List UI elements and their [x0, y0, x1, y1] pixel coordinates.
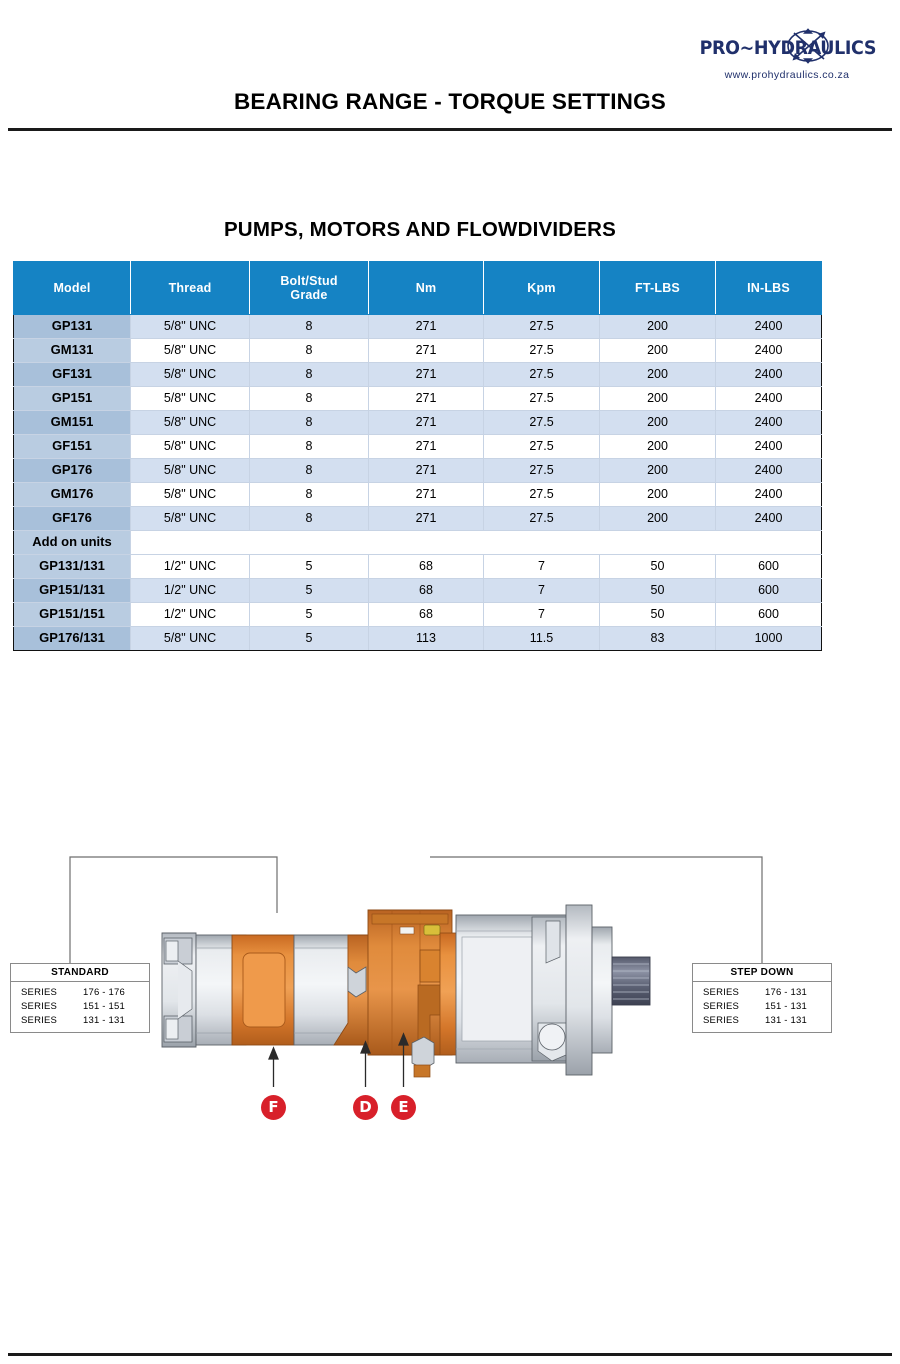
- cell-ft-lbs: 200: [600, 507, 716, 531]
- cell-ft-lbs: 200: [600, 459, 716, 483]
- table-header: Model Thread Bolt/Stud Grade Nm Kpm FT-L…: [14, 262, 822, 315]
- legend-box-standard: STANDARD SERIES 176 - 176 SERIES 151 - 1…: [10, 963, 150, 1033]
- cell-ft-lbs: 200: [600, 411, 716, 435]
- callout-marker-f: F: [261, 1095, 286, 1120]
- cell-thread: 5/8" UNC: [131, 363, 250, 387]
- column-header-nm: Nm: [369, 262, 484, 315]
- cell-nm: 271: [369, 339, 484, 363]
- cell-kpm: 27.5: [484, 435, 600, 459]
- cell-thread: 5/8" UNC: [131, 387, 250, 411]
- series-value: 151 - 131: [765, 1000, 821, 1014]
- table-row: GF1515/8" UNC827127.52002400: [14, 435, 822, 459]
- pump-left-section: [162, 933, 372, 1047]
- cell-nm: 68: [369, 603, 484, 627]
- cell-ft-lbs: 50: [600, 579, 716, 603]
- cell-kpm: 27.5: [484, 483, 600, 507]
- series-label: SERIES: [21, 986, 83, 1000]
- cell-kpm: 27.5: [484, 315, 600, 339]
- table-row: GP1515/8" UNC827127.52002400: [14, 387, 822, 411]
- cell-model: GP151/131: [14, 579, 131, 603]
- cell-kpm: 27.5: [484, 507, 600, 531]
- callout-marker-d: D: [353, 1095, 378, 1120]
- column-header-kpm: Kpm: [484, 262, 600, 315]
- table-body: GP1315/8" UNC827127.52002400GM1315/8" UN…: [14, 315, 822, 651]
- cell-bolt-stud-grade: 8: [250, 435, 369, 459]
- logo-mark: PRO~HYDRAULICS: [692, 28, 882, 68]
- torque-settings-table: Model Thread Bolt/Stud Grade Nm Kpm FT-L…: [13, 261, 822, 651]
- cell-thread: 5/8" UNC: [131, 507, 250, 531]
- cell-kpm: 7: [484, 579, 600, 603]
- cell-in-lbs: 600: [716, 603, 822, 627]
- header-line-1: Thread: [169, 281, 212, 295]
- header-line-1: Bolt/Stud: [280, 274, 337, 288]
- cell-thread: 1/2" UNC: [131, 603, 250, 627]
- cell-kpm: 11.5: [484, 627, 600, 651]
- footer-divider: [8, 1353, 892, 1356]
- list-item: SERIES 151 - 131: [693, 1000, 831, 1014]
- column-header-bolt-stud-grade: Bolt/Stud Grade: [250, 262, 369, 315]
- cell-model: GP131: [14, 315, 131, 339]
- cell-ft-lbs: 200: [600, 483, 716, 507]
- cell-model: GP151/151: [14, 603, 131, 627]
- cell-kpm: 27.5: [484, 411, 600, 435]
- cell-in-lbs: 600: [716, 579, 822, 603]
- table-row: GP1315/8" UNC827127.52002400: [14, 315, 822, 339]
- cell-nm: 271: [369, 507, 484, 531]
- section-title: PUMPS, MOTORS AND FLOWDIVIDERS: [0, 218, 840, 242]
- cell-nm: 271: [369, 411, 484, 435]
- header-line-1: IN-LBS: [747, 281, 790, 295]
- cell-bolt-stud-grade: 8: [250, 459, 369, 483]
- cell-bolt-stud-grade: 8: [250, 339, 369, 363]
- cell-bolt-stud-grade: 5: [250, 603, 369, 627]
- cell-model: GP151: [14, 387, 131, 411]
- column-header-model: Model: [14, 262, 131, 315]
- cell-in-lbs: 2400: [716, 483, 822, 507]
- column-header-thread: Thread: [131, 262, 250, 315]
- cell-ft-lbs: 200: [600, 363, 716, 387]
- cell-kpm: 27.5: [484, 363, 600, 387]
- cell-in-lbs: 2400: [716, 507, 822, 531]
- brand-logo: PRO~HYDRAULICS www.prohydraulics.co.za: [692, 28, 882, 81]
- cell-in-lbs: 2400: [716, 363, 822, 387]
- callout-marker-e: E: [391, 1095, 416, 1120]
- cell-thread: 1/2" UNC: [131, 555, 250, 579]
- cell-kpm: 27.5: [484, 387, 600, 411]
- cell-kpm: 27.5: [484, 459, 600, 483]
- header-divider: [8, 128, 892, 131]
- cell-nm: 271: [369, 363, 484, 387]
- cell-thread: 5/8" UNC: [131, 315, 250, 339]
- legend-rows-stepdown: SERIES 176 - 131 SERIES 151 - 131 SERIES…: [693, 982, 831, 1032]
- cell-in-lbs: 2400: [716, 339, 822, 363]
- cell-thread: 5/8" UNC: [131, 339, 250, 363]
- header-line-1: FT-LBS: [635, 281, 680, 295]
- cell-model: Add on units: [14, 531, 131, 555]
- cell-in-lbs: 1000: [716, 627, 822, 651]
- cell-nm: 68: [369, 579, 484, 603]
- table-row: GP151/1311/2" UNC568750600: [14, 579, 822, 603]
- cell-in-lbs: 2400: [716, 459, 822, 483]
- cell-model: GF176: [14, 507, 131, 531]
- cell-nm: 113: [369, 627, 484, 651]
- pump-right-section: [456, 905, 650, 1075]
- list-item: SERIES 131 - 131: [11, 1014, 149, 1028]
- cell-model: GP131/131: [14, 555, 131, 579]
- cell-ft-lbs: 50: [600, 555, 716, 579]
- table-row: GM1765/8" UNC827127.52002400: [14, 483, 822, 507]
- header-line-1: Kpm: [527, 281, 555, 295]
- cell-ft-lbs: 200: [600, 315, 716, 339]
- series-label: SERIES: [21, 1014, 83, 1028]
- cell-kpm: 27.5: [484, 339, 600, 363]
- cell-bolt-stud-grade: 8: [250, 315, 369, 339]
- logo-url: www.prohydraulics.co.za: [692, 69, 882, 81]
- cell-in-lbs: 600: [716, 555, 822, 579]
- header-line-1: Nm: [416, 281, 437, 295]
- table-header-row: Model Thread Bolt/Stud Grade Nm Kpm FT-L…: [14, 262, 822, 315]
- cell-bolt-stud-grade: 5: [250, 627, 369, 651]
- cell-thread: 5/8" UNC: [131, 411, 250, 435]
- cell-ft-lbs: 50: [600, 603, 716, 627]
- series-label: SERIES: [21, 1000, 83, 1014]
- cell-bolt-stud-grade: 8: [250, 483, 369, 507]
- table-row: GF1315/8" UNC827127.52002400: [14, 363, 822, 387]
- cell-in-lbs: 2400: [716, 315, 822, 339]
- cell-kpm: 7: [484, 555, 600, 579]
- cell-thread: 5/8" UNC: [131, 435, 250, 459]
- cell-kpm: 7: [484, 603, 600, 627]
- table-row: GP176/1315/8" UNC511311.5831000: [14, 627, 822, 651]
- cell-nm: 271: [369, 483, 484, 507]
- series-label: SERIES: [703, 1014, 765, 1028]
- series-label: SERIES: [703, 1000, 765, 1014]
- cell-model: GP176: [14, 459, 131, 483]
- series-value: 131 - 131: [765, 1014, 821, 1028]
- table-row: GM1515/8" UNC827127.52002400: [14, 411, 822, 435]
- legend-rows-standard: SERIES 176 - 176 SERIES 151 - 151 SERIES…: [11, 982, 149, 1032]
- page-title: BEARING RANGE - TORQUE SETTINGS: [0, 89, 900, 115]
- cell-in-lbs: 2400: [716, 411, 822, 435]
- header-line-2: Grade: [250, 288, 368, 302]
- table-row: GP1765/8" UNC827127.52002400: [14, 459, 822, 483]
- cell-thread: 1/2" UNC: [131, 579, 250, 603]
- cell-thread: 5/8" UNC: [131, 483, 250, 507]
- series-value: 176 - 131: [765, 986, 821, 1000]
- series-value: 131 - 131: [83, 1014, 139, 1028]
- cell-empty: [131, 531, 822, 555]
- legend-box-stepdown: STEP DOWN SERIES 176 - 131 SERIES 151 - …: [692, 963, 832, 1033]
- legend-title-stepdown: STEP DOWN: [693, 964, 831, 982]
- cell-model: GP176/131: [14, 627, 131, 651]
- cell-nm: 271: [369, 315, 484, 339]
- series-label: SERIES: [703, 986, 765, 1000]
- cell-bolt-stud-grade: 8: [250, 411, 369, 435]
- column-header-ft-lbs: FT-LBS: [600, 262, 716, 315]
- cell-in-lbs: 2400: [716, 435, 822, 459]
- cell-bolt-stud-grade: 8: [250, 363, 369, 387]
- cell-thread: 5/8" UNC: [131, 627, 250, 651]
- cell-model: GM131: [14, 339, 131, 363]
- cell-nm: 271: [369, 435, 484, 459]
- table-row: GP151/1511/2" UNC568750600: [14, 603, 822, 627]
- list-item: SERIES 176 - 131: [693, 986, 831, 1000]
- cell-nm: 271: [369, 387, 484, 411]
- cell-bolt-stud-grade: 5: [250, 579, 369, 603]
- table-row: Add on units: [14, 531, 822, 555]
- cell-nm: 271: [369, 459, 484, 483]
- cell-thread: 5/8" UNC: [131, 459, 250, 483]
- cell-ft-lbs: 200: [600, 339, 716, 363]
- column-header-in-lbs: IN-LBS: [716, 262, 822, 315]
- table-row: GF1765/8" UNC827127.52002400: [14, 507, 822, 531]
- cell-model: GF131: [14, 363, 131, 387]
- cell-nm: 68: [369, 555, 484, 579]
- header-line-1: Model: [53, 281, 90, 295]
- cell-ft-lbs: 83: [600, 627, 716, 651]
- logo-wordmark: PRO~HYDRAULICS: [700, 37, 875, 59]
- series-value: 176 - 176: [83, 986, 139, 1000]
- cell-bolt-stud-grade: 5: [250, 555, 369, 579]
- list-item: SERIES 176 - 176: [11, 986, 149, 1000]
- cell-bolt-stud-grade: 8: [250, 507, 369, 531]
- cell-model: GM176: [14, 483, 131, 507]
- table-row: GP131/1311/2" UNC568750600: [14, 555, 822, 579]
- cell-bolt-stud-grade: 8: [250, 387, 369, 411]
- table-row: GM1315/8" UNC827127.52002400: [14, 339, 822, 363]
- cell-model: GF151: [14, 435, 131, 459]
- cell-in-lbs: 2400: [716, 387, 822, 411]
- legend-title-standard: STANDARD: [11, 964, 149, 982]
- cell-ft-lbs: 200: [600, 387, 716, 411]
- cell-model: GM151: [14, 411, 131, 435]
- cell-ft-lbs: 200: [600, 435, 716, 459]
- series-value: 151 - 151: [83, 1000, 139, 1014]
- list-item: SERIES 131 - 131: [693, 1014, 831, 1028]
- list-item: SERIES 151 - 151: [11, 1000, 149, 1014]
